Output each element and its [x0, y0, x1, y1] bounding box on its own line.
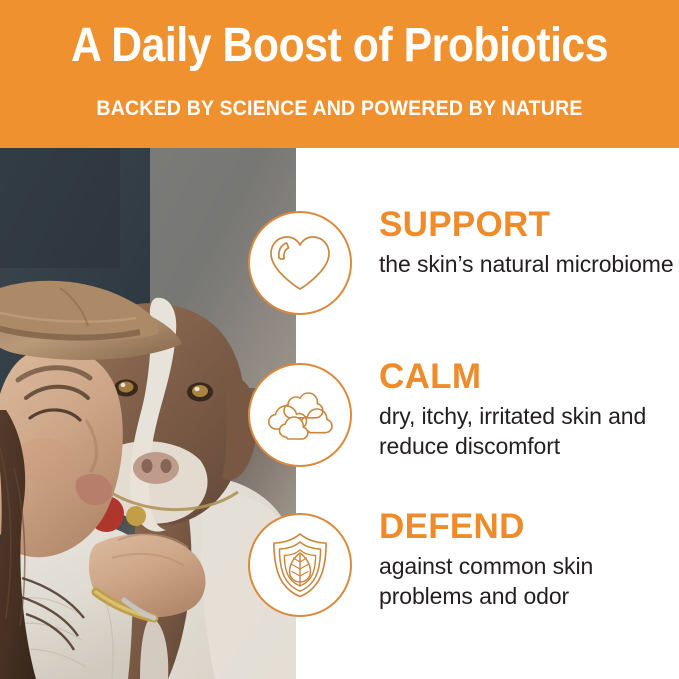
benefit-description-support: the skin’s natural microbiome [379, 249, 679, 279]
clouds-icon [266, 387, 334, 443]
benefit-title-defend: DEFEND [379, 507, 679, 547]
header-band: A Daily Boost of Probiotics BACKED BY SC… [0, 0, 679, 148]
benefit-support: SUPPORT the skin’s natural microbiome [248, 205, 679, 355]
page-subtitle: BACKED BY SCIENCE AND POWERED BY NATURE [24, 96, 655, 122]
probiotics-ad-banner: A Daily Boost of Probiotics BACKED BY SC… [0, 0, 679, 679]
benefit-text-support: SUPPORT the skin’s natural microbiome [379, 205, 679, 279]
benefit-defend: DEFEND against common skin problems and … [248, 507, 679, 657]
benefit-title-calm: CALM [379, 357, 679, 397]
benefit-description-calm: dry, itchy, irritated skin and reduce di… [379, 401, 679, 461]
benefit-title-support: SUPPORT [379, 205, 679, 245]
heart-icon [267, 232, 333, 294]
shield-leaf-icon [269, 531, 331, 599]
benefit-description-defend: against common skin problems and odor [379, 551, 679, 611]
page-title: A Daily Boost of Probiotics [37, 17, 641, 75]
benefit-icon-circle-defend [248, 513, 352, 617]
benefit-icon-circle-calm [248, 363, 352, 467]
benefit-icon-circle-support [248, 211, 352, 315]
benefit-calm: CALM dry, itchy, irritated skin and redu… [248, 357, 679, 507]
benefit-text-defend: DEFEND against common skin problems and … [379, 507, 679, 611]
benefit-text-calm: CALM dry, itchy, irritated skin and redu… [379, 357, 679, 461]
